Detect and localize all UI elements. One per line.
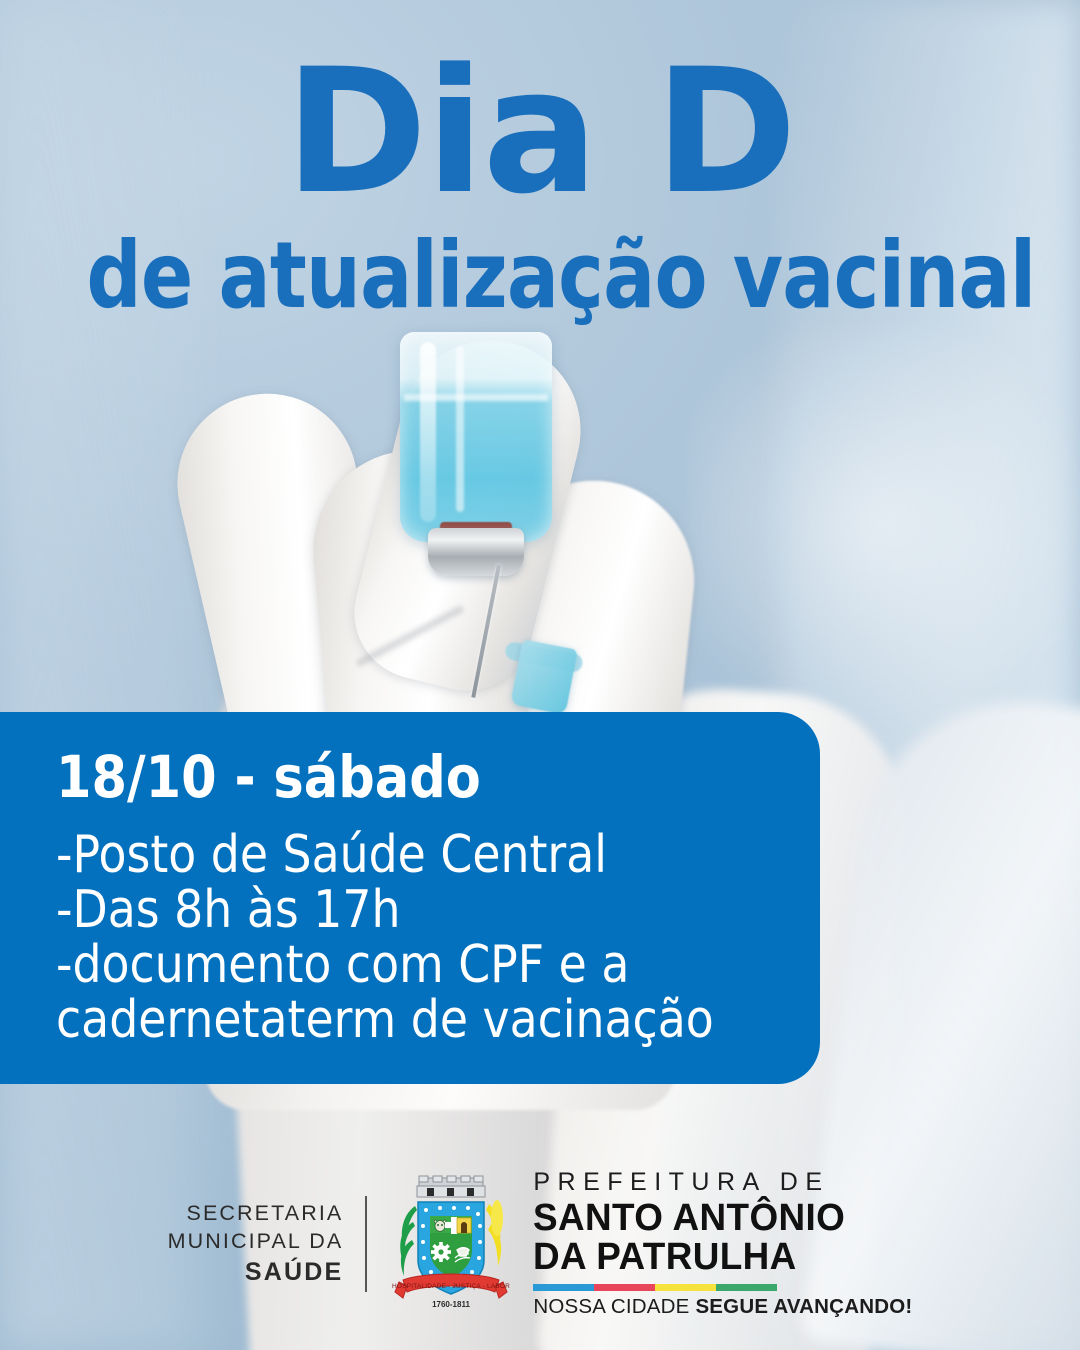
event-details-panel: 18/10 - sábado -Posto de Saúde Central -… (0, 712, 820, 1084)
tagline-bold: SEGUE AVANÇANDO! (695, 1295, 912, 1318)
coat-of-arms-years: 1760-1811 (432, 1300, 470, 1309)
color-bar-green (716, 1284, 777, 1291)
color-bar-blue (533, 1284, 594, 1291)
color-bar-yellow (655, 1284, 716, 1291)
coat-of-arms-motto: HOSPITALIDADE - JUSTIÇA - LABOR (392, 1283, 510, 1290)
logo-divider (365, 1196, 367, 1292)
prefeitura-logo: PREFEITURA DE SANTO ANTÔNIO DA PATRULHA … (517, 1168, 912, 1319)
list-item: -Posto de Saúde Central (56, 828, 693, 883)
coat-of-arms-icon: HOSPITALIDADE - JUSTIÇA - LABOR 1760-181… (385, 1174, 517, 1314)
prefeitura-tagline: NOSSA CIDADE SEGUE AVANÇANDO! (533, 1295, 912, 1319)
vaccine-vial (400, 332, 552, 542)
poster-root: Dia D de atualização vacinal 18/10 - sáb… (0, 0, 1080, 1350)
list-item: -documento com CPF e a (56, 938, 693, 993)
vial-highlight (456, 346, 464, 512)
secretaria-saude-logo: SECRETARIA MUNICIPAL DA SAÚDE (168, 1199, 366, 1289)
secretaria-line-2: MUNICIPAL DA (168, 1229, 344, 1253)
list-item: -Das 8h às 17h (56, 883, 693, 938)
page-subtitle: de atualização vacinal (86, 230, 993, 322)
secretaria-line-3: SAÚDE (168, 1256, 344, 1289)
page-title: Dia D (0, 46, 1080, 218)
prefeitura-name-line-1: SANTO ANTÔNIO (533, 1199, 901, 1238)
tagline-normal: NOSSA CIDADE (533, 1295, 695, 1318)
secretaria-line-1: SECRETARIA (187, 1201, 344, 1225)
color-bar-red (594, 1284, 655, 1291)
event-date: 18/10 - sábado (56, 748, 693, 806)
list-item: cadernetaterm de vacinação (56, 993, 693, 1048)
light-halo (690, 330, 1080, 760)
prefeitura-label: PREFEITURA DE (533, 1168, 912, 1197)
event-detail-list: -Posto de Saúde Central -Das 8h às 17h -… (56, 828, 780, 1048)
brand-color-bar (533, 1284, 777, 1291)
prefeitura-name-line-2: DA PATRULHA (533, 1238, 901, 1277)
headline-block: Dia D (0, 46, 1080, 218)
vial-highlight (420, 342, 436, 522)
footer-logos: SECRETARIA MUNICIPAL DA SAÚDE (0, 1168, 1080, 1319)
vial-metal-cap (428, 528, 524, 576)
